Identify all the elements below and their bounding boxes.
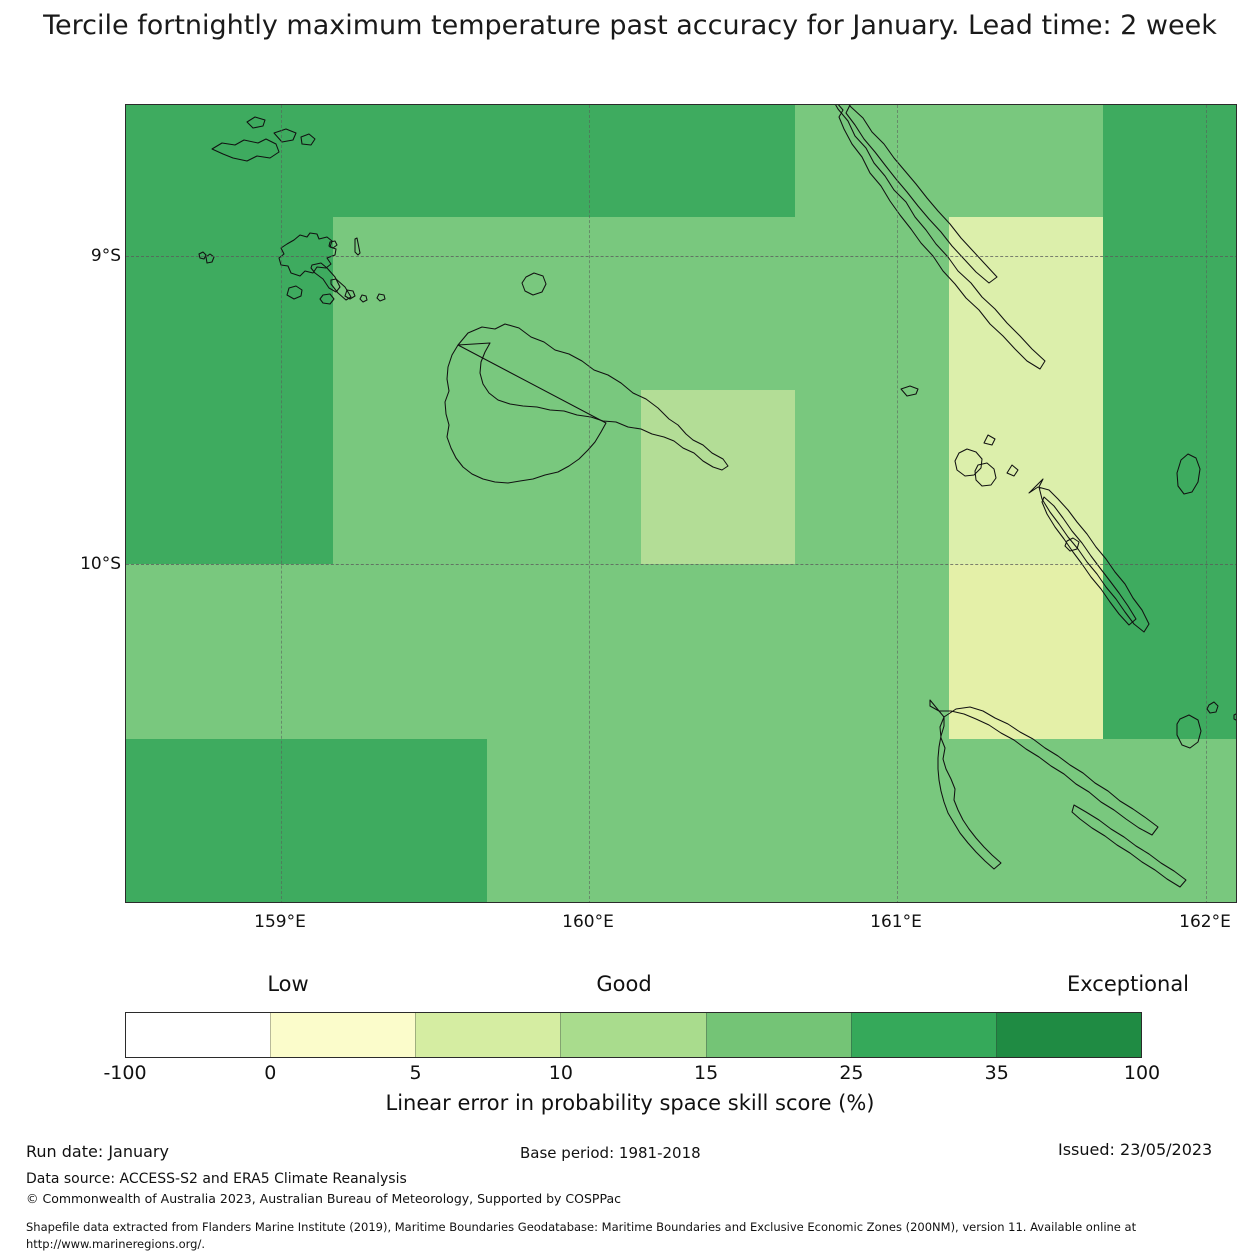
colorbar-segment bbox=[706, 1013, 851, 1057]
colorbar bbox=[125, 1012, 1142, 1058]
longitude-tick-label: 159°E bbox=[200, 912, 360, 932]
colorbar-segment bbox=[851, 1013, 996, 1057]
colorbar-axis-label: Linear error in probability space skill … bbox=[0, 1091, 1260, 1115]
colorbar-tick-label: 0 bbox=[210, 1062, 330, 1084]
gridline-vertical bbox=[589, 105, 590, 903]
run-date-text: Run date: January bbox=[26, 1142, 169, 1161]
map-plot-area bbox=[125, 104, 1237, 903]
colorbar-segment bbox=[560, 1013, 705, 1057]
gridline-vertical bbox=[897, 105, 898, 903]
colorbar-tick-label: 15 bbox=[646, 1062, 766, 1084]
issued-date-text: Issued: 23/05/2023 bbox=[1058, 1140, 1212, 1159]
colorbar-tick-label: 10 bbox=[501, 1062, 621, 1084]
colorbar-segment bbox=[996, 1013, 1141, 1057]
colorbar-category-labels: LowGoodExceptional bbox=[0, 972, 1260, 1002]
map-gridline-layer bbox=[126, 105, 1237, 903]
shapefile-attribution-text: Shapefile data extracted from Flanders M… bbox=[26, 1219, 1226, 1253]
colorbar-segment bbox=[270, 1013, 415, 1057]
colorbar-tick-label: 100 bbox=[1082, 1062, 1202, 1084]
colorbar-tick-labels: -1000510152535100 bbox=[0, 1062, 1260, 1088]
copyright-text: © Commonwealth of Australia 2023, Austra… bbox=[26, 1191, 621, 1206]
page-title: Tercile fortnightly maximum temperature … bbox=[0, 8, 1260, 44]
data-source-text: Data source: ACCESS-S2 and ERA5 Climate … bbox=[26, 1171, 407, 1187]
gridline-horizontal bbox=[126, 564, 1237, 565]
colorbar-category-label: Low bbox=[138, 972, 438, 996]
colorbar-category-label: Exceptional bbox=[978, 972, 1260, 996]
colorbar-tick-label: -100 bbox=[65, 1062, 185, 1084]
colorbar-tick-label: 25 bbox=[791, 1062, 911, 1084]
longitude-tick-label: 162°E bbox=[1125, 912, 1260, 932]
gridline-vertical bbox=[281, 105, 282, 903]
colorbar-segment bbox=[415, 1013, 560, 1057]
gridline-horizontal bbox=[126, 256, 1237, 257]
colorbar-tick-label: 5 bbox=[356, 1062, 476, 1084]
base-period-text: Base period: 1981-2018 bbox=[520, 1144, 701, 1162]
colorbar-segment bbox=[126, 1013, 270, 1057]
latitude-tick-label: 10°S bbox=[1, 554, 121, 574]
colorbar-tick-label: 35 bbox=[937, 1062, 1057, 1084]
gridline-vertical bbox=[1206, 105, 1207, 903]
longitude-tick-label: 161°E bbox=[816, 912, 976, 932]
colorbar-category-label: Good bbox=[474, 972, 774, 996]
latitude-tick-label: 9°S bbox=[1, 246, 121, 266]
longitude-tick-label: 160°E bbox=[508, 912, 668, 932]
